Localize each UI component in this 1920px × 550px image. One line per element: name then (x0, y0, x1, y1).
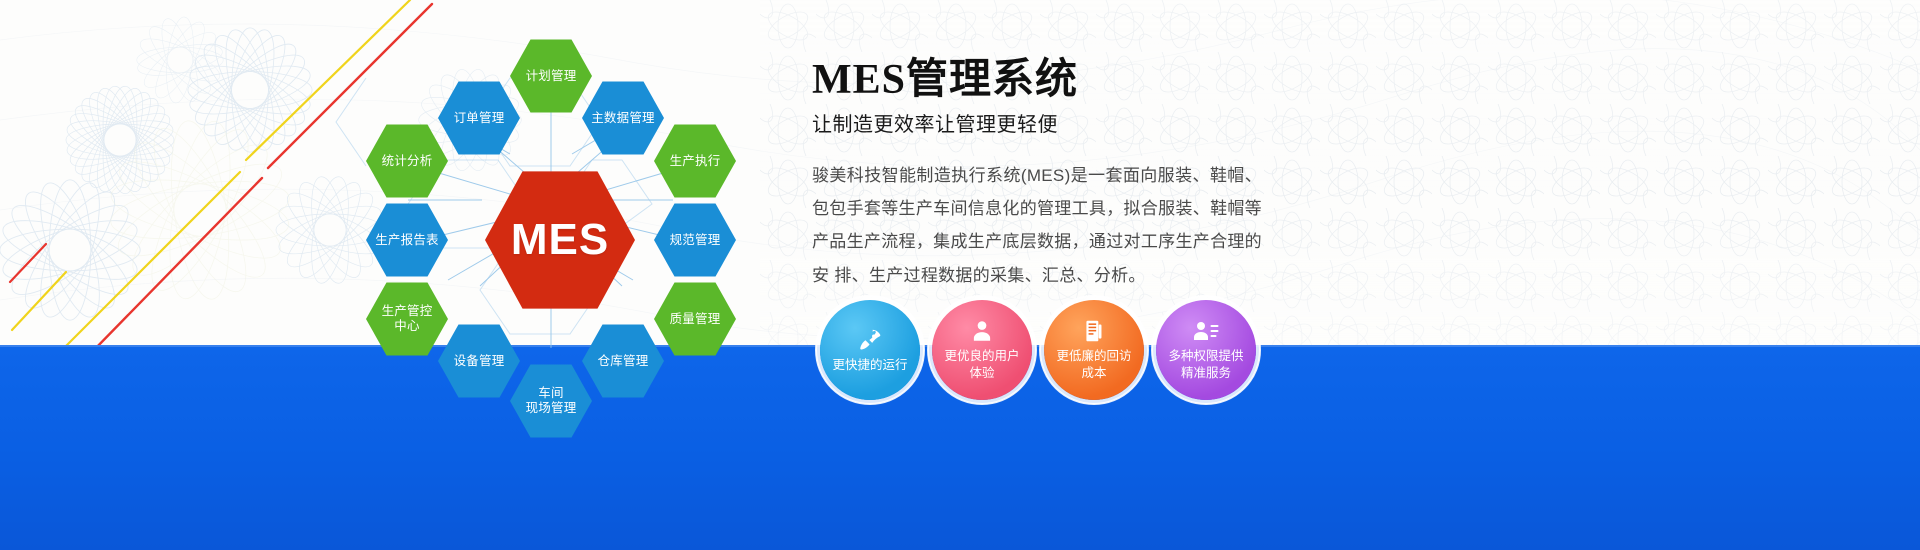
badge-faster-operation[interactable]: 更快捷的运行 (820, 300, 920, 400)
user-icon (969, 318, 995, 344)
hex-specification-management-label: 规范管理 (666, 233, 725, 248)
page-title: MES管理系统 (812, 58, 1282, 102)
hex-warehouse-management-label: 仓库管理 (594, 354, 653, 369)
hex-center-label: MES (507, 214, 613, 266)
badge-faster-operation-label: 更快捷的运行 (824, 357, 915, 374)
rocket-icon (857, 327, 883, 353)
feature-badge-list: 更快捷的运行更优良的用户体验更低廉的回访成本多种权限提供精准服务 (820, 300, 1256, 400)
description-paragraph: 骏美科技智能制造执行系统(MES)是一套面向服装、鞋帽、包包手套等生产车间信息化… (812, 159, 1262, 292)
hex-master-data-management-label: 主数据管理 (587, 111, 659, 126)
badge-multi-permission-service-label: 多种权限提供精准服务 (1156, 348, 1256, 382)
hero-banner: MES 计划管理订单管理主数据管理统计分析生产执行生产报告表规范管理生产管控中心… (0, 0, 1920, 550)
hex-statistical-analysis-label: 统计分析 (378, 154, 437, 169)
hex-workshop-site-management-label: 车间现场管理 (522, 386, 581, 416)
hero-text-column: MES管理系统 让制造更效率让管理更轻便 骏美科技智能制造执行系统(MES)是一… (812, 58, 1282, 292)
hex-equipment-management-label: 设备管理 (450, 354, 509, 369)
hex-production-report-label: 生产报告表 (371, 233, 443, 248)
hex-production-control-center-label: 生产管控中心 (378, 304, 437, 334)
badge-lower-followup-cost[interactable]: 更低廉的回访成本 (1044, 300, 1144, 400)
hex-plan-management-label: 计划管理 (522, 69, 581, 84)
page-subtitle: 让制造更效率让管理更轻便 (812, 108, 1282, 137)
permissions-icon (1192, 318, 1220, 344)
hex-order-management-label: 订单管理 (450, 111, 509, 126)
badge-better-user-experience[interactable]: 更优良的用户体验 (932, 300, 1032, 400)
mes-hexagon-diagram: MES 计划管理订单管理主数据管理统计分析生产执行生产报告表规范管理生产管控中心… (330, 18, 790, 438)
hex-production-execution-label: 生产执行 (666, 154, 725, 169)
badge-better-user-experience-label: 更优良的用户体验 (932, 348, 1032, 382)
document-icon (1081, 318, 1107, 344)
badge-multi-permission-service[interactable]: 多种权限提供精准服务 (1156, 300, 1256, 400)
hex-quality-management-label: 质量管理 (666, 312, 725, 327)
badge-lower-followup-cost-label: 更低廉的回访成本 (1044, 348, 1144, 382)
